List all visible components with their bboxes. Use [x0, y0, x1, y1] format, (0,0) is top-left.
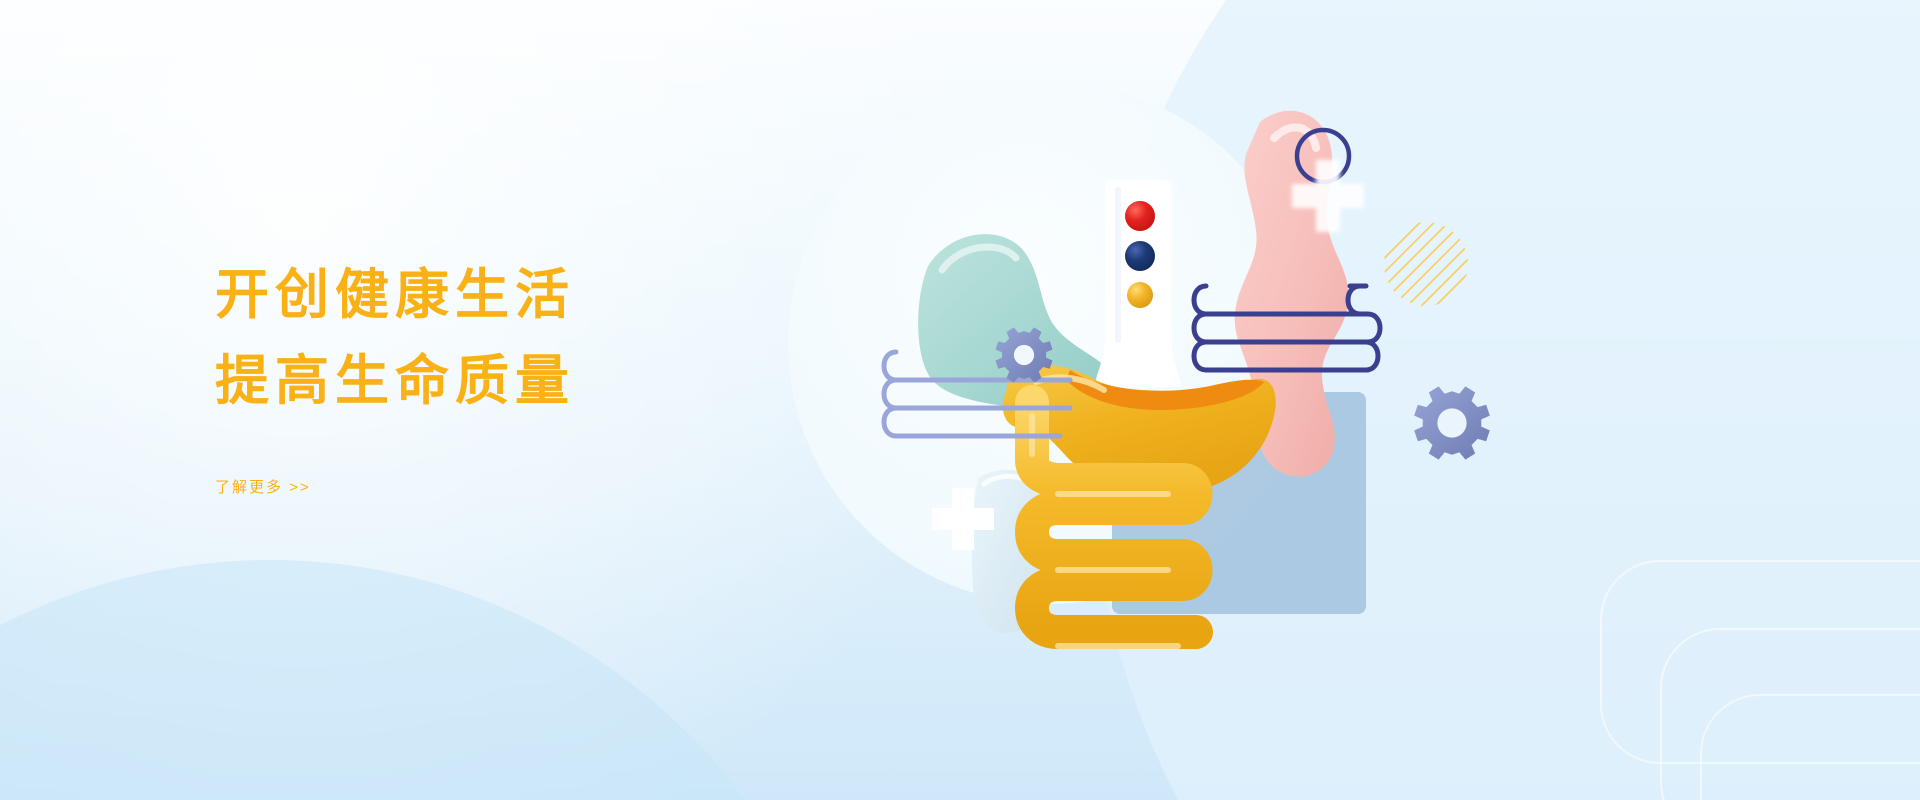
headline-line-1: 开创健康生活	[215, 252, 855, 338]
headline-line-2: 提高生命质量	[215, 338, 855, 424]
hero-banner: 开创健康生活 提高生命质量 了解更多 >>	[0, 0, 1920, 800]
capsule-dot-navy	[1125, 241, 1155, 271]
hatched-circle	[1384, 222, 1468, 306]
gear-large	[1414, 386, 1490, 459]
learn-more-link[interactable]: 了解更多 >>	[215, 476, 311, 497]
digestive-system-illustration	[860, 60, 1560, 680]
capsule-dot-yellow	[1127, 282, 1153, 308]
hero-copy-block: 开创健康生活 提高生命质量 了解更多 >>	[215, 252, 855, 497]
capsule-dot-red	[1125, 201, 1155, 231]
